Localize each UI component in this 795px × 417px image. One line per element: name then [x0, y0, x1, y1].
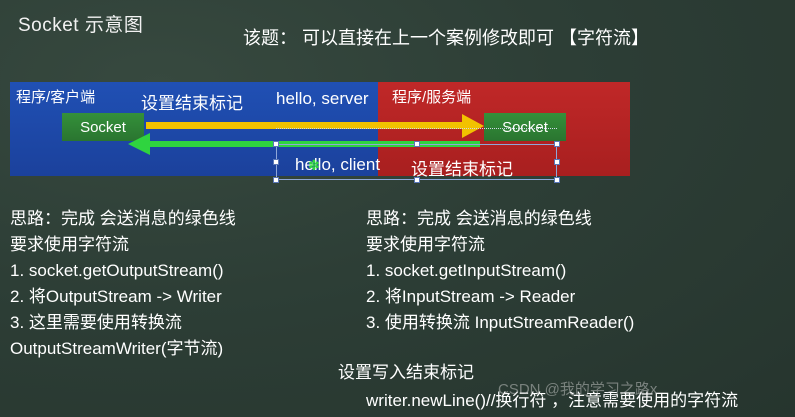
server-notes-text: 思路：完成 会送消息的绿色线 要求使用字符流 1. socket.getInpu…: [366, 206, 634, 336]
resize-handle-se[interactable]: [554, 177, 560, 183]
selection-guide-line: [276, 128, 557, 129]
resize-handle-nw[interactable]: [273, 141, 279, 147]
text-cursor-icon: ✽: [308, 158, 320, 172]
receive-arrow-head-icon: [128, 133, 150, 155]
top-note-text: 该题： 可以直接在上一个案例修改即可 【字符流】: [243, 24, 649, 50]
server-block-label: 程序/服务端: [392, 86, 471, 107]
resize-handle-e[interactable]: [554, 159, 560, 165]
resize-handle-n[interactable]: [414, 141, 420, 147]
client-notes-text: 思路：完成 会送消息的绿色线 要求使用字符流 1. socket.getOutp…: [10, 206, 236, 362]
page-title: Socket 示意图: [18, 10, 143, 37]
slide-canvas: Socket 示意图 该题： 可以直接在上一个案例修改即可 【字符流】 程序/客…: [0, 0, 795, 417]
hello-server-label: hello, server: [276, 89, 369, 109]
write-end-flag-note: 设置写入结束标记: [338, 358, 474, 383]
watermark-text: CSDN @我的学习之路x: [498, 378, 657, 399]
set-end-flag-top-label: 设置结束标记: [141, 89, 243, 114]
set-end-flag-bottom-label: 设置结束标记: [411, 155, 513, 180]
send-arrow-head-icon: [462, 114, 484, 138]
resize-handle-w[interactable]: [273, 159, 279, 165]
client-block-label: 程序/客户端: [16, 86, 95, 107]
resize-handle-sw[interactable]: [273, 177, 279, 183]
socket-server-box[interactable]: Socket: [484, 113, 566, 141]
resize-handle-ne[interactable]: [554, 141, 560, 147]
